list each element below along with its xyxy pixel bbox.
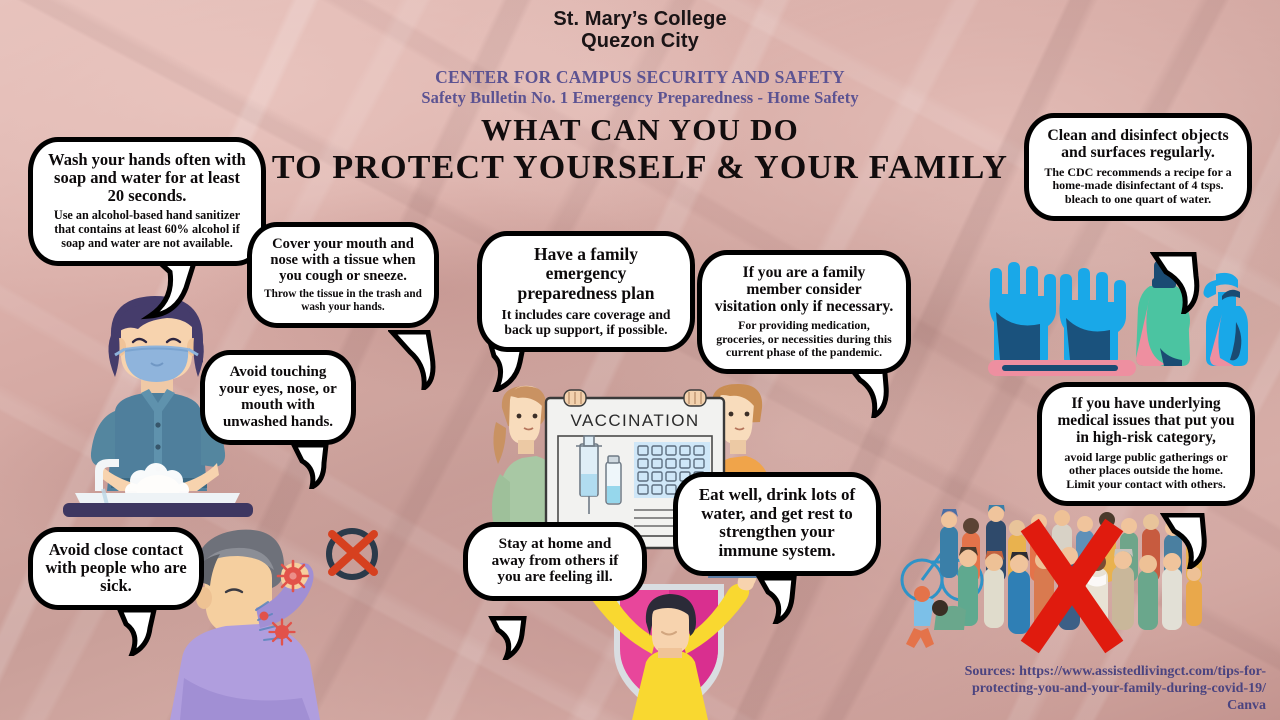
bubble-tail-risk bbox=[1160, 513, 1220, 569]
bubble-stay-home[interactable]: Stay at home and away from others if you… bbox=[463, 522, 647, 601]
college-name: St. Mary’s College Quezon City bbox=[0, 0, 1280, 53]
prohibition-icon bbox=[329, 531, 375, 577]
bubble-eat-well-headline: Eat well, drink lots of water, and get r… bbox=[690, 486, 864, 561]
sources-line-2: protecting-you-and-your-family-during-co… bbox=[826, 680, 1266, 697]
bubble-tail-stay bbox=[488, 616, 540, 660]
bubble-avoid-close-contact[interactable]: Avoid close contact with people who are … bbox=[28, 527, 204, 610]
bubble-tail-eat bbox=[756, 576, 810, 624]
bubble-wash-hands-detail: Use an alcohol-based hand sanitizer that… bbox=[45, 209, 249, 250]
bubble-eat-well[interactable]: Eat well, drink lots of water, and get r… bbox=[673, 472, 881, 576]
bulletin-subtitle: Safety Bulletin No. 1 Emergency Prepared… bbox=[0, 88, 1280, 108]
center-name: CENTER FOR CAMPUS SECURITY AND SAFETY bbox=[0, 67, 1280, 88]
bubble-cover-mouth[interactable]: Cover your mouth and nose with a tissue … bbox=[247, 222, 439, 328]
bubble-stay-home-headline: Stay at home and away from others if you… bbox=[480, 536, 630, 586]
sources-line-1: Sources: https://www.assistedlivingct.co… bbox=[826, 663, 1266, 680]
bubble-tail-clean bbox=[1150, 252, 1212, 314]
sources-line-3: Canva bbox=[826, 697, 1266, 714]
bubble-family-plan-detail: It includes care coverage and back up su… bbox=[494, 307, 678, 338]
bubble-visitation-detail: For providing medication, groceries, or … bbox=[714, 319, 894, 359]
vaccination-board-label: VACCINATION bbox=[570, 411, 699, 430]
bubble-avoid-touching[interactable]: Avoid touching your eyes, nose, or mouth… bbox=[200, 350, 356, 445]
bubble-visitation-headline: If you are a family member consider visi… bbox=[714, 264, 894, 315]
bubble-tail-touch bbox=[290, 443, 342, 489]
infographic-poster: VACCINATION bbox=[0, 0, 1280, 720]
sources-credit: Sources: https://www.assistedlivingct.co… bbox=[826, 663, 1266, 714]
bubble-tail-cover bbox=[388, 330, 444, 390]
college-line-2: Quezon City bbox=[0, 30, 1280, 52]
bubble-visitation[interactable]: If you are a family member consider visi… bbox=[697, 250, 911, 374]
bubble-family-plan-headline: Have a family emergency preparedness pla… bbox=[494, 245, 678, 303]
bubble-high-risk[interactable]: If you have underlying medical issues th… bbox=[1037, 382, 1255, 506]
bubble-high-risk-headline: If you have underlying medical issues th… bbox=[1054, 396, 1238, 447]
poster-header: St. Mary’s College Quezon City CENTER FO… bbox=[0, 0, 1280, 187]
bubble-high-risk-detail: avoid large public gatherings or other p… bbox=[1054, 451, 1238, 492]
bubble-family-plan[interactable]: Have a family emergency preparedness pla… bbox=[477, 231, 695, 352]
title-line-1: WHAT CAN YOU DO bbox=[0, 113, 1280, 148]
page-title: WHAT CAN YOU DO TO PROTECT YOURSELF & YO… bbox=[0, 113, 1280, 187]
cleaning-supplies-illustration bbox=[978, 252, 1258, 380]
college-line-1: St. Mary’s College bbox=[0, 8, 1280, 30]
bubble-tail-close bbox=[116, 608, 172, 656]
bubble-cover-mouth-detail: Throw the tissue in the trash and wash y… bbox=[264, 288, 422, 313]
title-line-2: TO PROTECT YOURSELF & YOUR FAMILY bbox=[0, 149, 1280, 187]
bubble-avoid-touching-headline: Avoid touching your eyes, nose, or mouth… bbox=[217, 364, 339, 430]
bubble-cover-mouth-headline: Cover your mouth and nose with a tissue … bbox=[264, 236, 422, 284]
bubble-avoid-close-contact-headline: Avoid close contact with people who are … bbox=[45, 541, 187, 595]
